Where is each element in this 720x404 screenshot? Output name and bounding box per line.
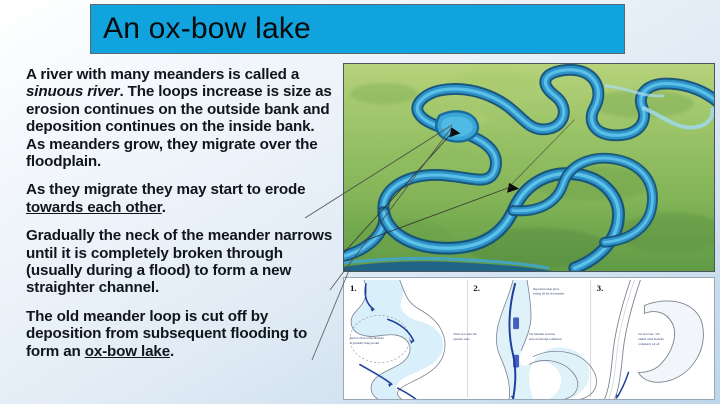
panel-3-number: 3. [597,283,604,293]
para1-run1: A river with many meanders is called a [26,66,299,83]
panel-2-number: 2. [473,283,480,293]
paragraph-4: The old meander loop is cut off by depos… [26,308,334,360]
para3-run1: Gradually the neck of the meander narrow… [26,227,332,296]
panel-1-number: 1. [350,283,357,293]
deposition-plug-top [513,317,519,329]
para2-run3: . [162,199,166,216]
panel-3-caption-line-3: completely cut off [638,342,659,346]
oxbow-formation-diagram: 1. Narrow Neck of the Meander is gradua [343,277,715,400]
panel-2-caption-line-2: sealing off the old meander [533,292,564,296]
para4-underline-ox-bow-lake: ox-bow lake [85,343,170,360]
paragraph-2: As they migrate they may start to erode … [26,181,334,216]
slide-title-bar: An ox-bow lake [90,4,625,54]
para2-run1: As they migrate they may start to erode [26,181,305,198]
oxbow-formation-graphic: 1. Narrow Neck of the Meander is gradua [344,278,714,399]
para1-italic-sinuous-river: sinuous river [26,83,119,100]
page-title: An ox-bow lake [91,14,311,44]
panel-3-caption-line-2: behind when meander [638,337,663,341]
paragraph-1: A river with many meanders is called a s… [26,66,334,170]
panel-3-caption-line-1: Ox-bow lake : left [638,332,659,336]
slide-canvas: An ox-bow lake A river with many meander… [0,0,720,404]
panel-2-caption-line-6: been cut through completely [529,337,562,341]
panel-2-caption-line-3: Water now takes the [453,332,477,336]
para4-run3: . [170,343,174,360]
panel-2-caption-line-4: quickest route [453,337,470,341]
aerial-photo-graphic [344,64,714,271]
panel-2-caption-line-1: Deposition takes place, [533,287,560,291]
panel-1-caption-line-2: is gradually being eroded [350,341,380,345]
panel-1-caption-line-1: Narrow Neck of the Meander [350,336,384,340]
panel-2-caption-line-5: The Meander neck has [529,332,556,336]
aerial-river-photo [343,63,715,272]
para2-underline-towards-each-other: towards each other [26,199,162,216]
paragraph-3: Gradually the neck of the meander narrow… [26,227,334,297]
body-text-column: A river with many meanders is called a s… [26,66,334,360]
